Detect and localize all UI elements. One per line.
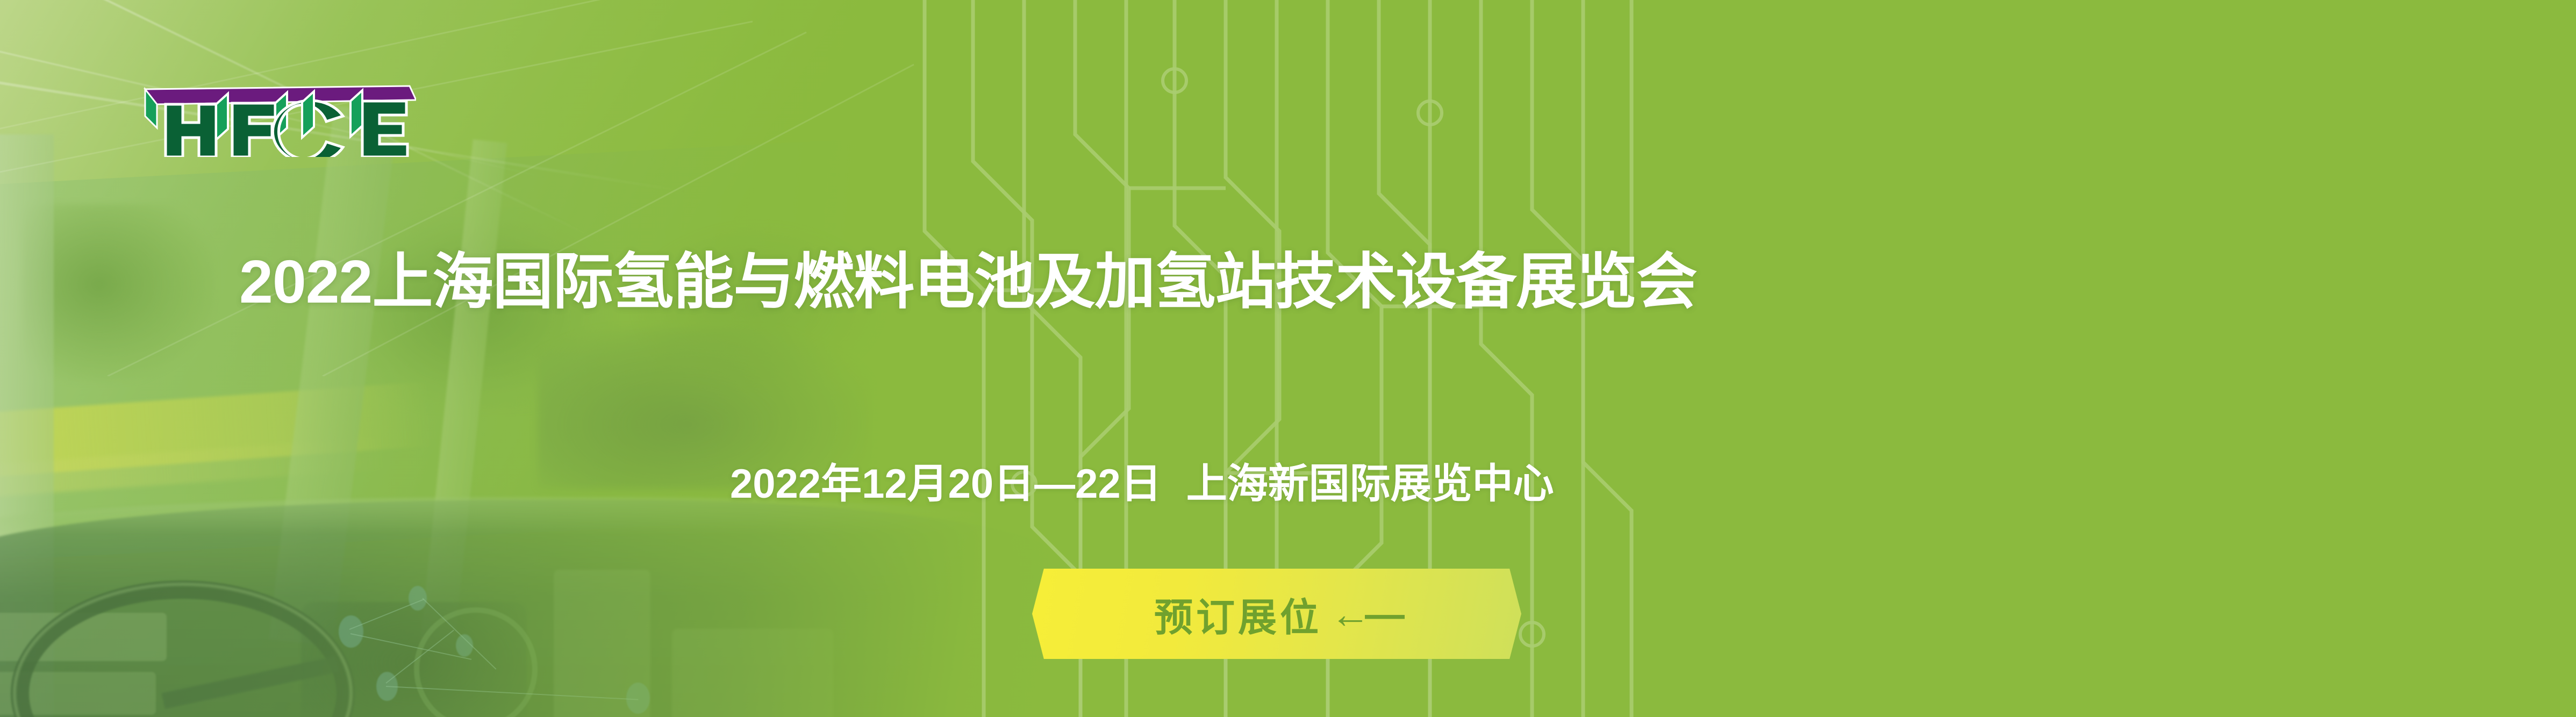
- book-booth-button[interactable]: 预订展位 ←—: [1032, 569, 1521, 659]
- event-venue: 上海新国际展览中心: [1186, 461, 1554, 507]
- left-arrow-icon: ←—: [1330, 591, 1399, 637]
- cta-label: 预订展位: [1154, 586, 1322, 642]
- event-date: 2022年12月20日—22日: [730, 461, 1162, 507]
- hfce-logo[interactable]: [141, 82, 416, 157]
- exhibition-banner: 2022上海国际氢能与燃料电池及加氢站技术设备展览会 2022年12月20日—2…: [0, 0, 2576, 717]
- event-details: 2022年12月20日—22日上海新国际展览中心: [730, 450, 1554, 510]
- logo-letter-e: [350, 90, 407, 157]
- cta-label-wrap: 预订展位 ←—: [1032, 569, 1521, 659]
- page-title: 2022上海国际氢能与燃料电池及加氢站技术设备展览会: [239, 232, 1697, 320]
